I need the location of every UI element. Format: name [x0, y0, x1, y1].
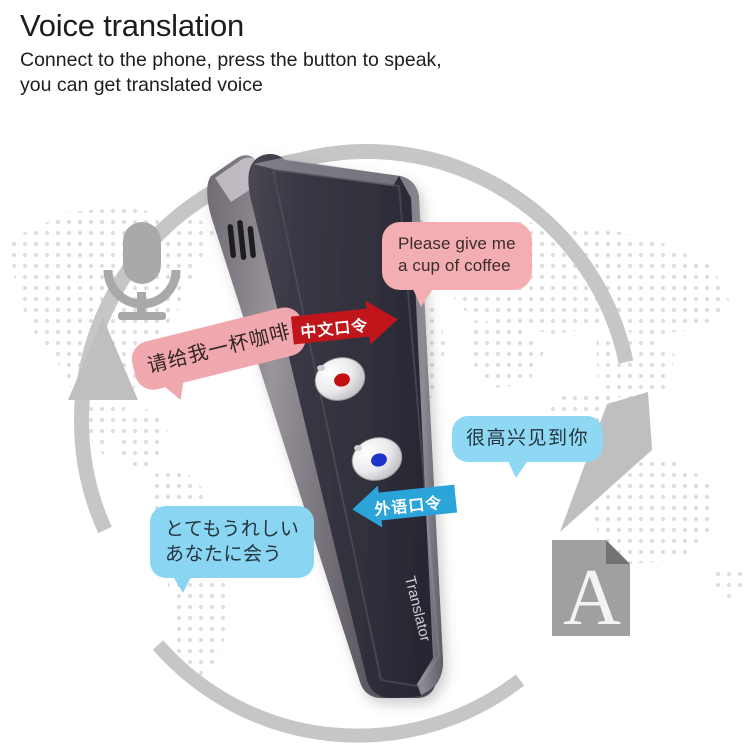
document-letter: A: [563, 554, 621, 638]
microphone-icon: [96, 218, 188, 322]
bubble-text: とてもうれしい あなたに会う: [165, 517, 299, 566]
header: Voice translation Connect to the phone, …: [20, 8, 720, 99]
speech-bubble-english-request: Please give me a cup of coffee: [382, 222, 532, 290]
flow-arrowhead-up: [68, 318, 138, 400]
bubble-text: 很高兴见到你: [466, 427, 589, 450]
bubble-text: Please give me a cup of coffee: [398, 233, 516, 278]
page-subtitle: Connect to the phone, press the button t…: [20, 48, 720, 99]
document-icon: A: [548, 538, 634, 638]
voice-translation-banner: A: [0, 0, 750, 750]
page-title: Voice translation: [20, 8, 720, 44]
speech-bubble-japanese-greeting: とてもうれしい あなたに会う: [150, 506, 314, 578]
bubble-tail: [172, 575, 192, 593]
speech-bubble-chinese-greeting: 很高兴见到你: [452, 416, 603, 462]
bubble-tail: [507, 459, 529, 478]
bubble-tail: [408, 287, 434, 307]
